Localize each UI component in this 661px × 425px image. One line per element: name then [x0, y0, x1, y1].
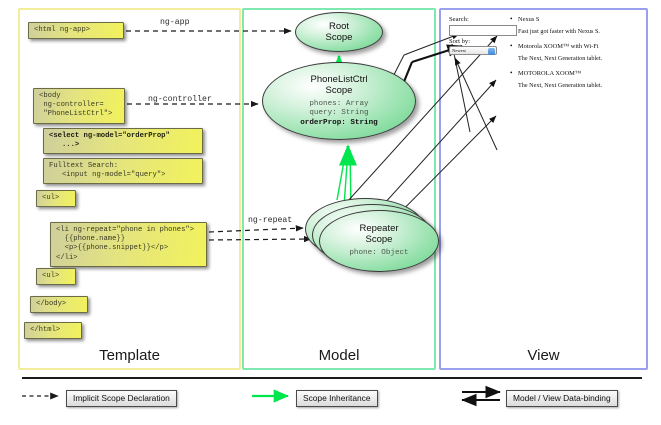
code-block-li-repeat: <li ng-repeat="phone in phones"> {{phone… [50, 222, 207, 267]
legend-label-scope-inheritance: Scope Inheritance [296, 390, 378, 407]
view-app-preview: Search: Sort by: Newest Nexus S Fast jus… [449, 16, 639, 131]
scope-node-phonelistctrl: PhoneListCtrl Scope phones: Array query:… [262, 62, 416, 140]
repeater-prop-phone: phone: Object [349, 249, 408, 258]
sort-by-selected-value: Newest [452, 48, 466, 53]
legend-glyph-model-view-data-binding [462, 392, 500, 400]
phonelist-prop-phones: phones: Array [300, 100, 377, 109]
code-block-html-open: <html ng-app> [28, 22, 124, 39]
code-block-ul-open: <ul> [36, 190, 76, 207]
sort-by-select[interactable]: Newest [449, 46, 497, 55]
code-block-html-close: </html> [24, 322, 82, 339]
panel-template: Template [18, 8, 241, 370]
code-block-body-close: </body> [30, 296, 88, 313]
phone-snippet: The Next, Next Generation tablet. [509, 55, 639, 63]
phone-snippet: The Next, Next Generation tablet. [509, 82, 639, 90]
scope-node-repeater: Repeater Scope phone: Object [319, 210, 439, 272]
code-block-ul-close: <ul> [36, 268, 76, 285]
repeater-scope-title-1: Repeater [359, 223, 398, 234]
phonelist-scope-title-1: PhoneListCtrl [310, 74, 367, 85]
phone-list: Nexus S Fast just got faster with Nexus … [509, 16, 639, 97]
phonelist-scope-title-2: Scope [326, 85, 353, 96]
legend-label-implicit-scope-declaration: Implicit Scope Declaration [66, 390, 177, 407]
legend-divider [22, 377, 642, 379]
panel-label-model: Model [244, 347, 434, 364]
phonelist-prop-orderprop: orderProp: String [300, 119, 377, 127]
phonelist-prop-query: query: String [300, 109, 377, 118]
edge-label-ng-controller: ng-controller [148, 95, 212, 104]
phone-snippet: Fast just got faster with Nexus S. [509, 28, 639, 36]
list-item[interactable]: Motorola XOOM™ with Wi-Fi The Next, Next… [509, 43, 639, 63]
phone-name: Motorola XOOM™ with Wi-Fi [509, 43, 639, 51]
diagram-canvas: Template Model View [0, 0, 661, 425]
edge-label-ng-repeat: ng-repeat [248, 216, 292, 225]
code-block-fulltext-search: Fulltext Search: <input ng-model="query"… [43, 158, 203, 184]
edge-label-ng-app: ng-app [160, 18, 189, 27]
code-block-body-open: <body ng-controller= "PhoneListCtrl"> [33, 88, 125, 124]
phone-name: Nexus S [509, 16, 639, 24]
search-input[interactable] [449, 25, 517, 36]
scope-node-root: Root Scope [295, 12, 383, 52]
panel-label-template: Template [20, 347, 239, 364]
root-scope-title-1: Root [329, 21, 349, 32]
chevron-down-icon[interactable] [488, 48, 495, 55]
panel-label-view: View [441, 347, 646, 364]
repeater-scope-title-2: Scope [366, 234, 393, 245]
code-block-select: <select ng-model="orderProp" ...> [43, 128, 203, 154]
list-item[interactable]: Nexus S Fast just got faster with Nexus … [509, 16, 639, 36]
phone-name: MOTOROLA XOOM™ [509, 70, 639, 78]
list-item[interactable]: MOTOROLA XOOM™ The Next, Next Generation… [509, 70, 639, 90]
root-scope-title-2: Scope [326, 32, 353, 43]
legend-label-model-view-data-binding: Model / View Data-binding [506, 390, 618, 407]
